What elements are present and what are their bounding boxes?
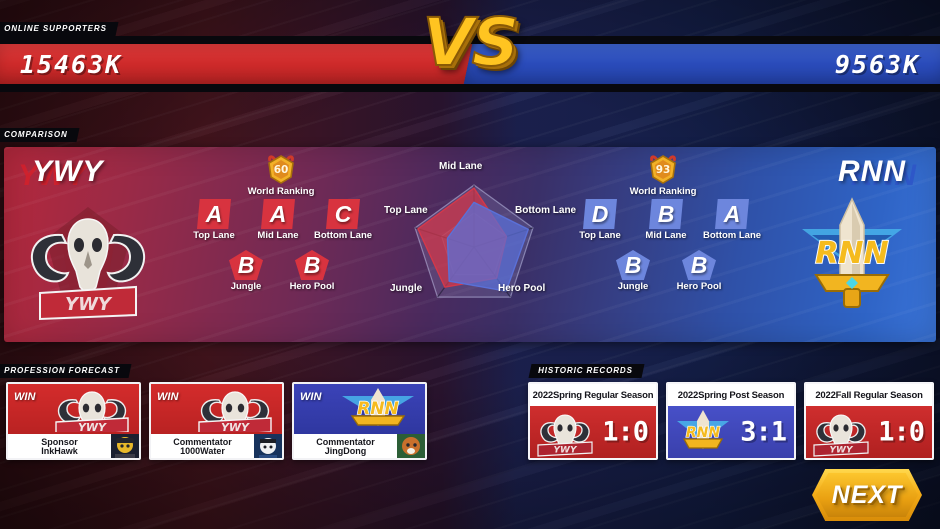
right-grades: D Top Lane B Mid Lane A Bottom Lane <box>570 199 762 292</box>
grade-cell: B Mid Lane <box>637 199 695 241</box>
online-supporters-label: ONLINE SUPPORTERS <box>0 22 118 36</box>
grade-letter: B <box>691 254 708 277</box>
radar-axis-label-mid-lane: Mid Lane <box>439 161 482 172</box>
history-card-body: YWY 1:0 <box>530 406 656 458</box>
history-card[interactable]: 2022Fall Regular Season YWY <box>804 382 934 460</box>
grade-cell: B Hero Pool <box>283 250 341 292</box>
left-supporters-count: 15463K <box>20 50 122 79</box>
forecast-card-footer: Commentator 1000Water <box>151 434 282 460</box>
svg-text:RNN: RNN <box>815 236 888 271</box>
grade-letter: B <box>238 254 255 277</box>
left-team-name: YWY <box>32 155 103 189</box>
forecast-card-banner: WIN YWY <box>151 384 282 434</box>
next-button[interactable]: NEXT <box>812 469 922 521</box>
grade-label: Hero Pool <box>670 281 728 292</box>
left-ranking-number: 60 <box>274 164 289 176</box>
svg-text:RNN: RNN <box>357 399 399 419</box>
history-team-logo-ywy: YWY <box>810 407 872 457</box>
left-world-ranking: 60 World Ranking <box>226 153 336 197</box>
history-score: 3:1 <box>740 417 786 448</box>
online-supporters-text: ONLINE SUPPORTERS <box>4 24 107 33</box>
grade-letter: A <box>724 203 741 226</box>
forecast-card[interactable]: WIN YWY <box>6 382 141 460</box>
stats-radar-chart: Mid Lane Bottom Lane Hero Pool Jungle To… <box>382 155 566 335</box>
grade-letter: B <box>304 254 321 277</box>
right-supporters-count: 9563K <box>835 50 920 79</box>
win-badge: WIN <box>14 391 35 403</box>
grade-letter: B <box>658 203 675 226</box>
forecast-card-footer: Sponsor InkHawk <box>8 434 139 460</box>
forecast-person: Commentator 1000Water <box>151 434 254 460</box>
svg-text:YWY: YWY <box>221 421 250 432</box>
left-team-emblem: YWY <box>18 189 158 324</box>
radar-axis-label-jungle: Jungle <box>390 283 422 294</box>
forecast-card[interactable]: WIN RNN Commentator JingDong <box>292 382 427 460</box>
grade-label: Jungle <box>217 281 275 292</box>
match-comparison-screen: ONLINE SUPPORTERS 15463K 9563K VS COMPAR… <box>0 0 940 529</box>
forecast-person: Sponsor InkHawk <box>8 434 111 460</box>
history-score: 1:0 <box>602 417 648 448</box>
radar-axis-label-bottom-lane: Bottom Lane <box>515 205 576 216</box>
historic-records-label: HISTORIC RECORDS <box>529 364 645 378</box>
next-button-label: NEXT <box>832 481 903 510</box>
comparison-label-text: COMPARISON <box>4 130 68 139</box>
grade-label: Mid Lane <box>637 230 695 241</box>
svg-text:RNN: RNN <box>686 425 720 441</box>
history-card[interactable]: 2022Spring Post Season RNN 3:1 <box>666 382 796 460</box>
grade-label: Top Lane <box>186 230 242 241</box>
grade-cell: B Jungle <box>217 250 275 292</box>
grade-label: Bottom Lane <box>314 230 372 241</box>
forecast-card-footer: Commentator JingDong <box>294 434 425 460</box>
comparison-label: COMPARISON <box>0 128 79 142</box>
svg-text:YWY: YWY <box>65 294 113 315</box>
grade-label: Bottom Lane <box>703 230 761 241</box>
grade-cell: B Hero Pool <box>670 250 728 292</box>
forecast-person: Commentator JingDong <box>294 434 397 460</box>
left-ranking-label: World Ranking <box>226 186 336 197</box>
right-ranking-crest-icon: 93 <box>646 153 680 185</box>
forecast-team-logo-ywy: YWY <box>46 386 138 432</box>
forecast-card-banner: WIN RNN <box>294 384 425 434</box>
win-badge: WIN <box>300 391 321 403</box>
grade-cell: C Bottom Lane <box>314 199 372 241</box>
grade-label: Hero Pool <box>283 281 341 292</box>
history-season-title: 2022Fall Regular Season <box>806 384 932 406</box>
grade-cell: D Top Lane <box>571 199 629 241</box>
right-team-emblem: RNN <box>782 189 922 324</box>
right-ranking-label: World Ranking <box>608 186 718 197</box>
grade-cell: B Jungle <box>604 250 662 292</box>
forecast-avatar <box>254 434 282 460</box>
profession-forecast-label: PROFESSION FORECAST <box>0 364 131 378</box>
left-supporters-bar: 15463K <box>0 44 476 84</box>
forecast-team-logo-rnn: RNN <box>332 386 424 432</box>
grade-label: Mid Lane <box>250 230 306 241</box>
history-team-logo-rnn: RNN <box>672 407 734 457</box>
grade-label: Top Lane <box>571 230 629 241</box>
grade-letter: D <box>592 203 609 226</box>
win-badge: WIN <box>157 391 178 403</box>
right-world-ranking: 93 World Ranking <box>608 153 718 197</box>
forecast-avatar <box>111 434 139 460</box>
historic-records-label-text: HISTORIC RECORDS <box>538 366 633 375</box>
history-season-title: 2022Spring Post Season <box>668 384 794 406</box>
forecast-card-banner: WIN YWY <box>8 384 139 434</box>
historic-records-list: 2022Spring Regular Season YWY <box>528 382 934 460</box>
svg-text:YWY: YWY <box>554 446 578 456</box>
svg-text:YWY: YWY <box>830 446 854 456</box>
history-score: 1:0 <box>878 417 924 448</box>
svg-text:YWY: YWY <box>78 421 107 432</box>
grade-cell: A Bottom Lane <box>703 199 761 241</box>
vs-logo: VS <box>423 4 518 81</box>
grade-letter: A <box>206 203 223 226</box>
grade-cell: A Mid Lane <box>250 199 306 241</box>
radar-axis-label-top-lane: Top Lane <box>384 205 428 216</box>
radar-axis-label-hero-pool: Hero Pool <box>498 283 545 294</box>
comparison-panel: YWY YWY RNN RNN YWY <box>4 147 936 342</box>
history-card-body: YWY 1:0 <box>806 406 932 458</box>
grade-letter: A <box>270 203 287 226</box>
profession-forecast-list: WIN YWY <box>6 382 427 460</box>
history-card[interactable]: 2022Spring Regular Season YWY <box>528 382 658 460</box>
grade-cell: A Top Lane <box>186 199 242 241</box>
forecast-team-logo-ywy: YWY <box>189 386 281 432</box>
history-team-logo-ywy: YWY <box>534 407 596 457</box>
left-ranking-crest-icon: 60 <box>264 153 298 185</box>
forecast-name: 1000Water <box>180 447 225 456</box>
history-season-title: 2022Spring Regular Season <box>530 384 656 406</box>
grade-label: Jungle <box>604 281 662 292</box>
profession-forecast-label-text: PROFESSION FORECAST <box>4 366 120 375</box>
grade-letter: B <box>625 254 642 277</box>
right-supporters-bar: 9563K <box>464 44 940 84</box>
forecast-name: JingDong <box>325 447 367 456</box>
grade-letter: C <box>335 203 352 226</box>
forecast-card[interactable]: WIN YWY <box>149 382 284 460</box>
forecast-avatar <box>397 434 425 460</box>
right-ranking-number: 93 <box>656 164 671 176</box>
forecast-name: InkHawk <box>41 447 78 456</box>
right-team-name: RNN <box>838 155 906 189</box>
left-grades: A Top Lane A Mid Lane C Bottom Lane <box>186 199 372 292</box>
history-card-body: RNN 3:1 <box>668 406 794 458</box>
